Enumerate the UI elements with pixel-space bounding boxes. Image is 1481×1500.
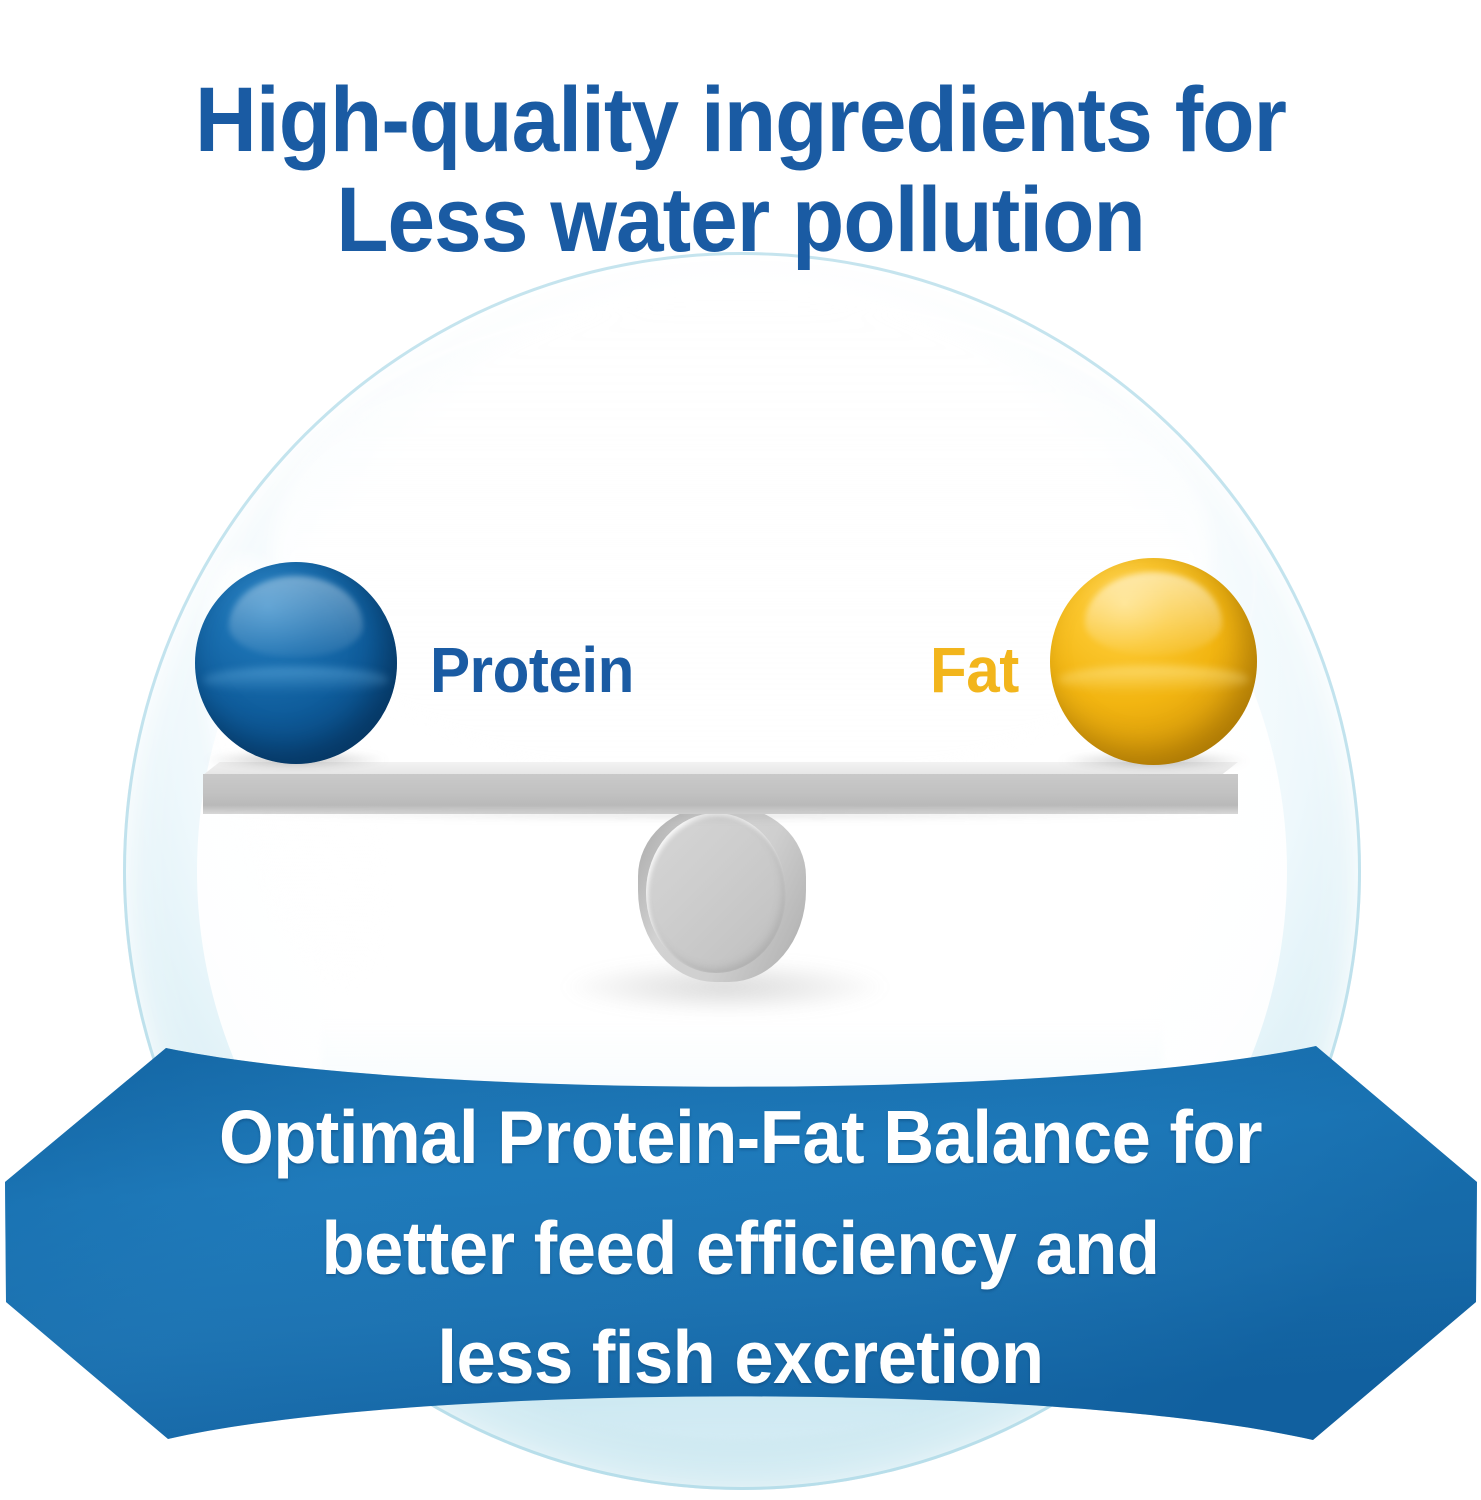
banner-line-2: better feed efficiency and	[44, 1195, 1436, 1302]
headline-line-2: Less water pollution	[52, 170, 1429, 270]
protein-label: Protein	[430, 638, 634, 702]
headline-line-1: High-quality ingredients for	[52, 62, 1429, 170]
banner-line-1: Optimal Protein-Fat Balance for	[44, 1084, 1436, 1191]
page-title: High-quality ingredients for Less water …	[52, 62, 1429, 270]
banner-line-3: less fish excretion	[44, 1304, 1436, 1411]
banner-text: Optimal Protein-Fat Balance for better f…	[44, 1078, 1436, 1399]
fat-label: Fat	[930, 638, 1019, 702]
